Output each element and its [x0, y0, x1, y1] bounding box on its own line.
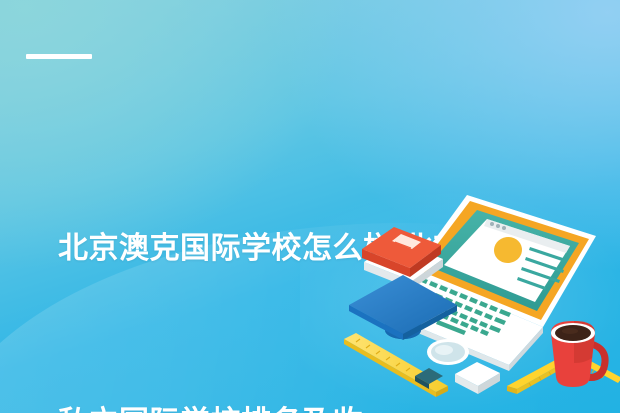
- page-title: 北京澳克国际学校怎么样 北京 私立国际学校排名及收: [58, 104, 558, 413]
- article-cover-banner: 北京澳克国际学校怎么样 北京 私立国际学校排名及收: [0, 0, 620, 413]
- headline-line-1: 北京澳克国际学校怎么样 北京: [58, 220, 558, 278]
- headline-line-2: 私立国际学校排名及收: [58, 394, 558, 413]
- coffee-mug-icon: [551, 321, 609, 387]
- accent-rule: [26, 54, 92, 59]
